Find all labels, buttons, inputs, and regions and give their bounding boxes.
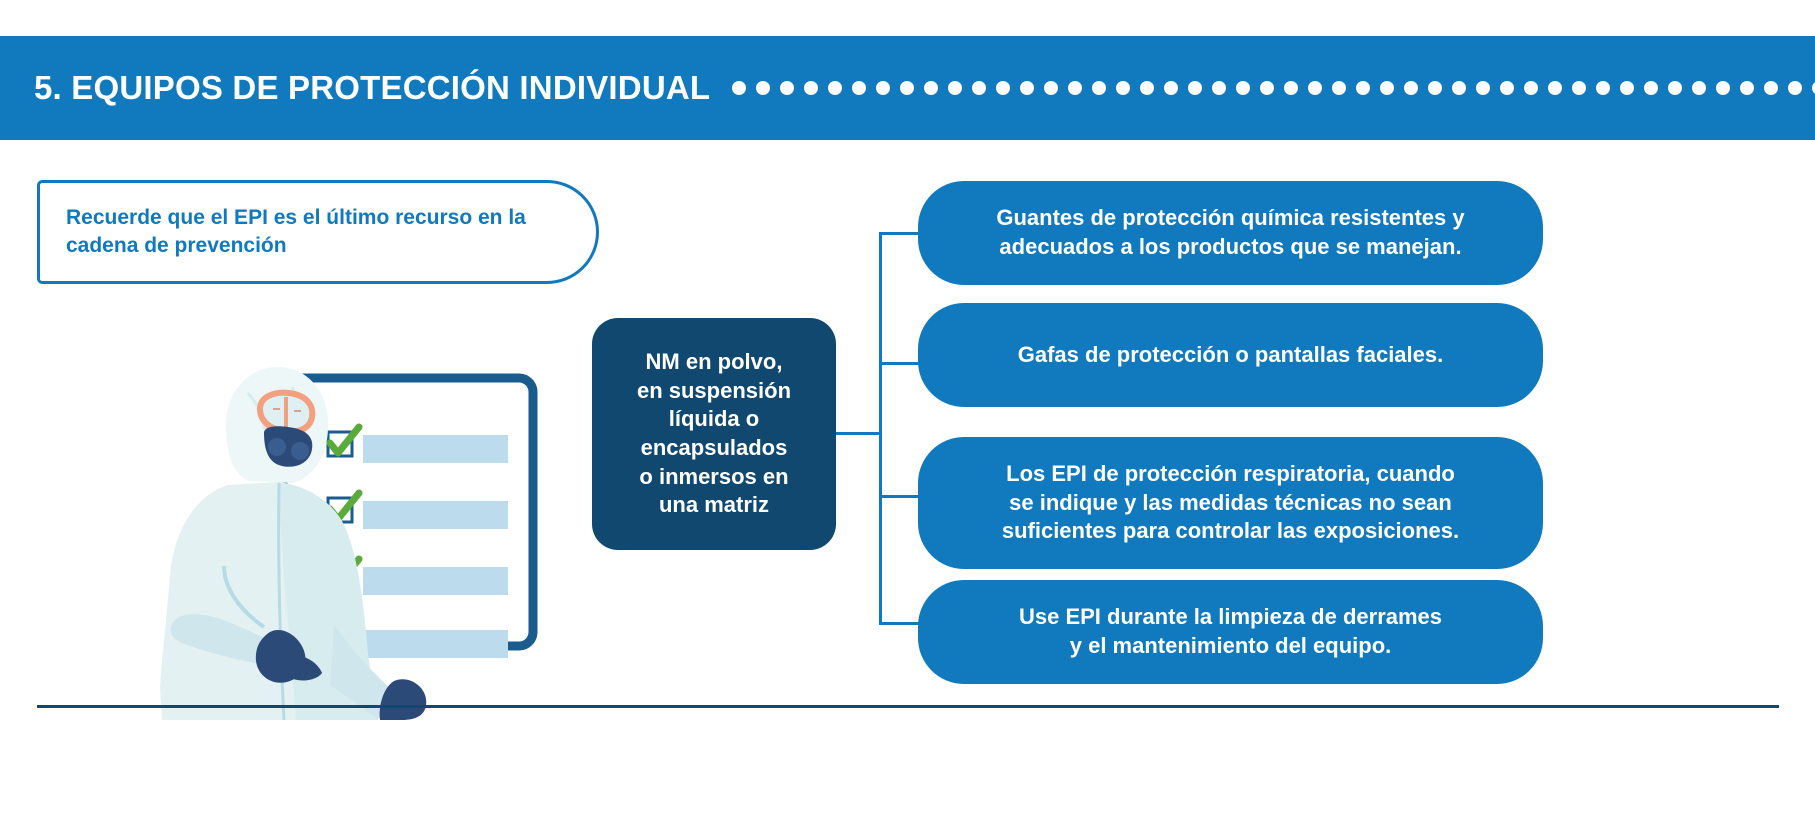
connector-branch-3	[879, 495, 921, 498]
bottom-divider	[37, 705, 1779, 708]
header-dot	[1380, 81, 1394, 95]
header-dot	[1308, 81, 1322, 95]
header-dot	[804, 81, 818, 95]
header-dot	[1092, 81, 1106, 95]
header-dot	[1236, 81, 1250, 95]
header-dot	[1260, 81, 1274, 95]
header-dot	[1212, 81, 1226, 95]
header-dot	[1788, 81, 1802, 95]
header-dot	[1764, 81, 1778, 95]
connector-stem	[836, 432, 882, 435]
connector-branch-1	[879, 232, 921, 235]
header-dot	[1716, 81, 1730, 95]
header-dot	[1596, 81, 1610, 95]
item-pill-2-text: Gafas de protección o pantallas faciales…	[1018, 341, 1444, 370]
header-dot	[1164, 81, 1178, 95]
header-dot	[1524, 81, 1538, 95]
item-pill-1-text: Guantes de protección química resistente…	[996, 204, 1464, 261]
header-dot	[1332, 81, 1346, 95]
header-band: 5. EQUIPOS DE PROTECCIÓN INDIVIDUAL	[0, 36, 1815, 140]
connector-branch-2	[879, 362, 921, 365]
item-pill-3-text: Los EPI de protección respiratoria, cuan…	[1002, 460, 1459, 546]
hazmat-worker-illustration	[78, 325, 578, 720]
header-dot	[756, 81, 770, 95]
header-dot	[900, 81, 914, 95]
header-dot-rule	[732, 81, 1815, 95]
infographic-page: 5. EQUIPOS DE PROTECCIÓN INDIVIDUAL Recu…	[0, 0, 1815, 822]
header-dot	[1572, 81, 1586, 95]
illustration-svg	[78, 325, 578, 720]
remark-callout: Recuerde que el EPI es el último recurso…	[37, 180, 599, 284]
header-dot	[1500, 81, 1514, 95]
header-dot	[1740, 81, 1754, 95]
header-dot	[1068, 81, 1082, 95]
header-dot	[1116, 81, 1130, 95]
goggles-icon	[260, 393, 312, 432]
header-dot	[948, 81, 962, 95]
item-pill-4: Use EPI durante la limpieza de derrames …	[918, 580, 1543, 684]
header-dot	[828, 81, 842, 95]
remark-text: Recuerde que el EPI es el último recurso…	[66, 204, 562, 261]
header-dot	[972, 81, 986, 95]
header-dot	[996, 81, 1010, 95]
header-dot	[1188, 81, 1202, 95]
header-dot	[1452, 81, 1466, 95]
page-title: 5. EQUIPOS DE PROTECCIÓN INDIVIDUAL	[34, 69, 710, 107]
header-dot	[1356, 81, 1370, 95]
item-pill-2: Gafas de protección o pantallas faciales…	[918, 303, 1543, 407]
item-pill-3: Los EPI de protección respiratoria, cuan…	[918, 437, 1543, 569]
header-dot	[852, 81, 866, 95]
center-node-text: NM en polvo, en suspensión líquida o enc…	[637, 348, 791, 520]
header-dot	[1284, 81, 1298, 95]
item-pill-1: Guantes de protección química resistente…	[918, 181, 1543, 285]
connector-spine	[879, 232, 882, 624]
header-dot	[1476, 81, 1490, 95]
header-dot	[1428, 81, 1442, 95]
center-node: NM en polvo, en suspensión líquida o enc…	[592, 318, 836, 550]
header-dot	[1020, 81, 1034, 95]
header-dot	[924, 81, 938, 95]
header-dot	[1668, 81, 1682, 95]
header-dot	[1044, 81, 1058, 95]
header-dot	[1692, 81, 1706, 95]
header-dot	[780, 81, 794, 95]
header-dot	[1140, 81, 1154, 95]
header-dot	[876, 81, 890, 95]
item-pill-4-text: Use EPI durante la limpieza de derrames …	[1019, 603, 1442, 660]
header-dot	[1620, 81, 1634, 95]
connector-branch-4	[879, 622, 921, 625]
header-dot	[1548, 81, 1562, 95]
header-dot	[732, 81, 746, 95]
header-dot	[1644, 81, 1658, 95]
header-dot	[1404, 81, 1418, 95]
